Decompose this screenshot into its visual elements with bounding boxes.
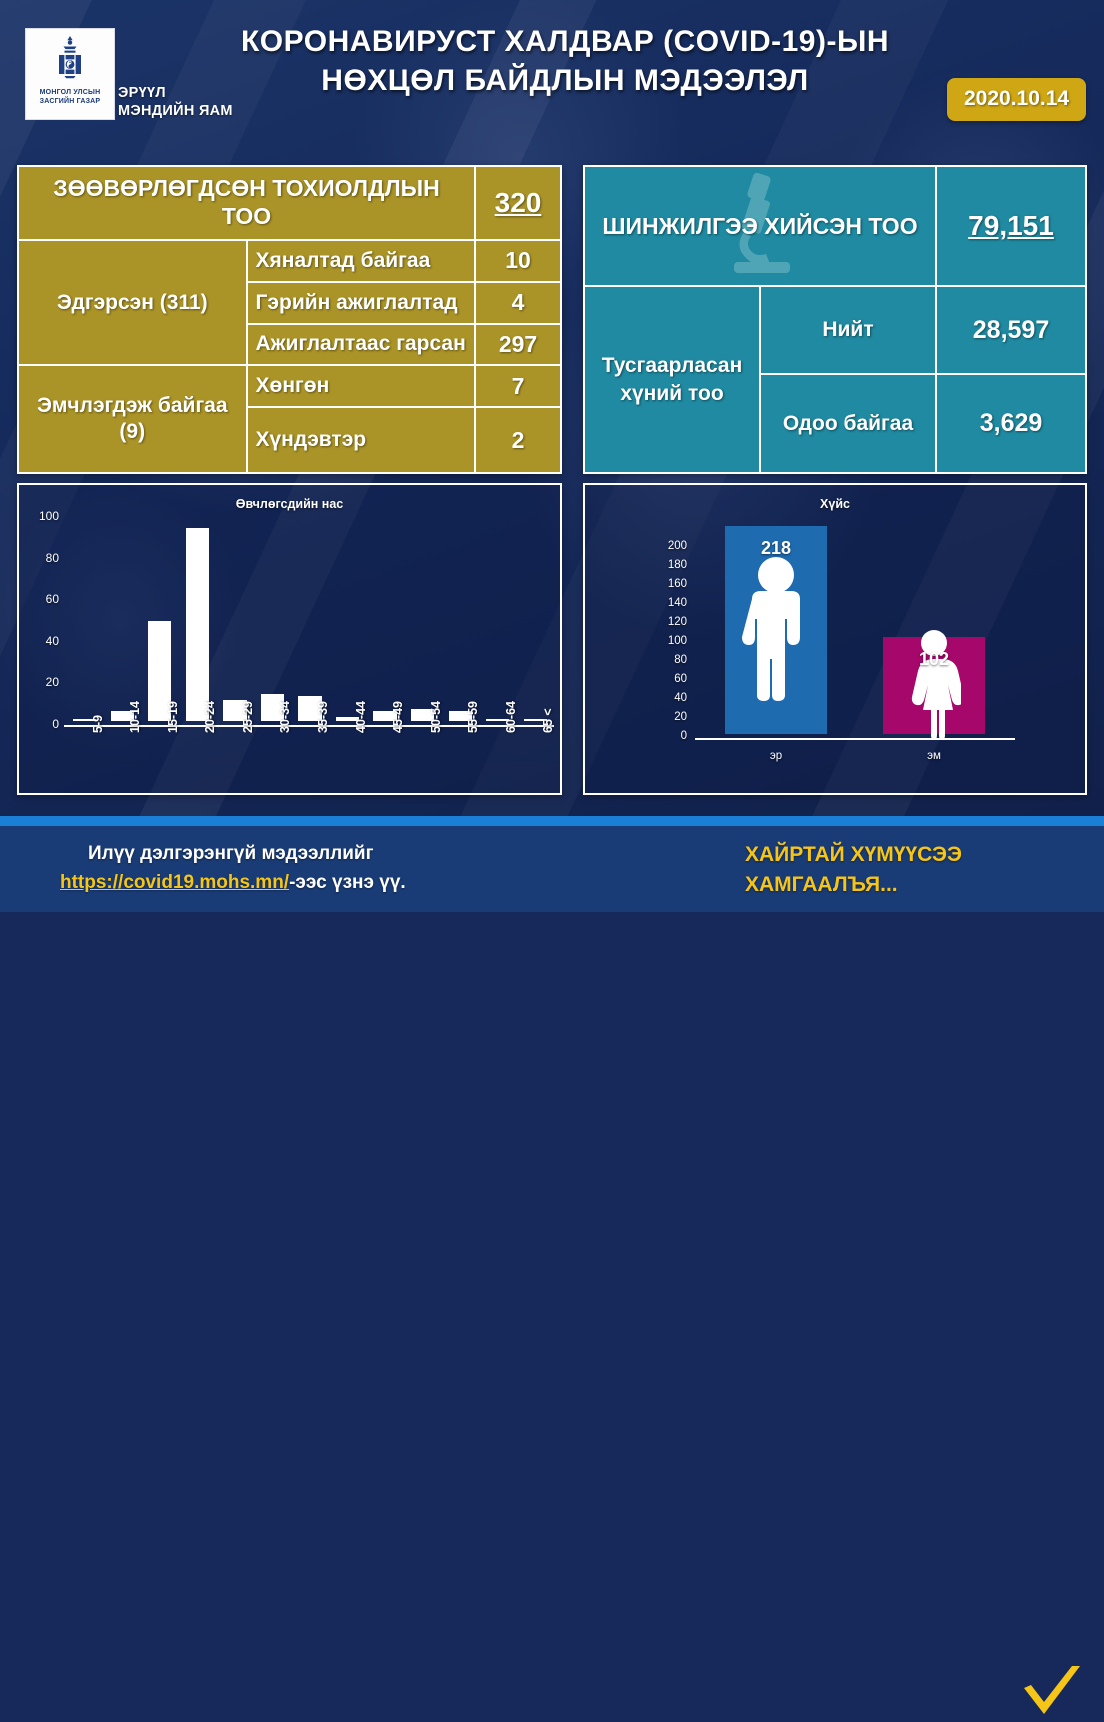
y-tick-80: 80: [19, 551, 59, 565]
age-x-label: 25-29: [241, 701, 255, 733]
y-tick-120: 120: [643, 616, 687, 628]
page-title-line2: НӨХЦӨЛ БАЙДЛЫН МЭДЭЭЛЭЛ: [321, 64, 808, 97]
footer-info-line1: Илүү дэлгэрэнгүй мэдээллийг: [60, 840, 620, 869]
footer-slogan-line1: ХАЙРТАЙ ХҮМҮҮСЭЭ: [745, 840, 1035, 870]
age-x-label: 65 <: [541, 708, 555, 733]
date-badge: 2020.10.14: [947, 78, 1086, 121]
tests-label-text: ШИНЖИЛГЭЭ ХИЙСЭН ТОО: [602, 213, 917, 239]
y-tick-60: 60: [643, 673, 687, 685]
table-row: Эдгэрсэн (311) Хяналтад байгаа 10: [18, 240, 561, 282]
ministry-line1: ЭРҮҮЛ: [118, 85, 166, 101]
y-tick-0: 0: [643, 730, 687, 742]
row-value-3: 7: [475, 365, 561, 407]
age-x-label: 55-59: [466, 701, 480, 733]
row-label-0: Хяналтад байгаа: [247, 240, 476, 282]
table-row: Эмчлэгдэж байгаа (9) Хөнгөн 7: [18, 365, 561, 407]
row-value-2: 297: [475, 324, 561, 366]
tests-summary-table: ШИНЖИЛГЭЭ ХИЙСЭН ТОО 79,151 Тусгаарласан…: [583, 165, 1087, 474]
male-figure-icon: [740, 553, 812, 708]
footer-slogan-line2: ХАМГААЛЪЯ...: [745, 870, 1035, 900]
header: МОНГОЛ УЛСЫН ЗАСГИЙН ГАЗАР ЭРҮҮЛ МЭНДИЙН…: [0, 0, 1104, 148]
footer-slogan: ХАЙРТАЙ ХҮМҮҮСЭЭ ХАМГААЛЪЯ...: [745, 840, 1035, 901]
row-label-3: Хөнгөн: [247, 365, 476, 407]
age-x-label: 15-19: [166, 701, 180, 733]
y-tick-100: 100: [643, 635, 687, 647]
female-figure-icon: [907, 628, 961, 743]
cases-summary-table: ЗӨӨВӨРЛӨГДСӨН ТОХИОЛДЛЫН ТОО 320 Эдгэрсэ…: [17, 165, 562, 474]
y-tick-140: 140: [643, 597, 687, 609]
y-tick-180: 180: [643, 559, 687, 571]
tests-value: 79,151: [936, 166, 1086, 286]
age-x-label: 50-54: [429, 701, 443, 733]
total-cases-label: ЗӨӨВӨРЛӨГДСӨН ТОХИОЛДЛЫН ТОО: [18, 166, 475, 240]
table-row: Тусгаарласан хүний тоо Нийт 28,597: [584, 286, 1086, 374]
tests-label: ШИНЖИЛГЭЭ ХИЙСЭН ТОО: [584, 166, 936, 286]
age-x-label: 10-14: [128, 701, 142, 733]
accent-strip: [0, 816, 1104, 826]
sex-category-label: эр: [725, 750, 826, 762]
age-x-label: 30-34: [278, 701, 292, 733]
logo-text: МОНГОЛ УЛСЫН ЗАСГИЙН ГАЗАР: [40, 88, 101, 107]
age-chart-title: Өвчлөгсдийн нас: [19, 497, 560, 511]
logo-text-line1: МОНГОЛ УЛСЫН: [40, 89, 101, 96]
sex-bar-value: 102: [883, 649, 984, 670]
age-bar: [186, 528, 209, 721]
table-row: ЗӨӨВӨРЛӨГДСӨН ТОХИОЛДЛЫН ТОО 320: [18, 166, 561, 240]
page-title: КОРОНАВИРУСТ ХАЛДВАР (COVID-19)-ЫН НӨХЦӨ…: [200, 22, 930, 100]
age-x-label: 60-64: [504, 701, 518, 733]
footer-info: Илүү дэлгэрэнгүй мэдээллийг https://covi…: [60, 840, 620, 897]
y-tick-0: 0: [19, 717, 59, 731]
isolated-row-label-1: Одоо байгаа: [760, 374, 936, 473]
y-tick-20: 20: [643, 711, 687, 723]
y-tick-60: 60: [19, 592, 59, 606]
age-distribution-chart: Өвчлөгсдийн нас 020406080100 5-910-1415-…: [17, 483, 562, 795]
ministry-line2: МЭНДИЙН ЯАМ: [118, 103, 233, 119]
sex-bar-value: 218: [725, 538, 826, 559]
row-label-2: Ажиглалтаас гарсан: [247, 324, 476, 366]
age-x-label: 35-39: [316, 701, 330, 733]
sex-distribution-chart: Хүйс 020406080100120140160180200 218эр10…: [583, 483, 1087, 795]
y-tick-160: 160: [643, 578, 687, 590]
isolated-row-label-0: Нийт: [760, 286, 936, 374]
y-tick-100: 100: [19, 509, 59, 523]
row-value-1: 4: [475, 282, 561, 324]
footer-info-suffix: -ээс үзнэ үү.: [289, 872, 406, 893]
y-tick-40: 40: [643, 692, 687, 704]
y-tick-20: 20: [19, 675, 59, 689]
footer: Илүү дэлгэрэнгүй мэдээллийг https://covi…: [0, 826, 1104, 912]
government-logo: МОНГОЛ УЛСЫН ЗАСГИЙН ГАЗАР: [25, 28, 115, 120]
isolated-row-value-1: 3,629: [936, 374, 1086, 473]
sex-category-label: эм: [883, 750, 984, 762]
row-value-4: 2: [475, 407, 561, 473]
age-x-label: 5-9: [91, 715, 105, 733]
age-x-label: 45-49: [391, 701, 405, 733]
table-row: ШИНЖИЛГЭЭ ХИЙСЭН ТОО 79,151: [584, 166, 1086, 286]
sex-chart-x-axis: [695, 738, 1015, 740]
age-x-label: 40-44: [354, 701, 368, 733]
soyombo-emblem-icon: [47, 34, 93, 86]
row-label-1: Гэрийн ажиглалтад: [247, 282, 476, 324]
age-x-label: 20-24: [203, 701, 217, 733]
total-cases-value: 320: [475, 166, 561, 240]
sex-chart-title: Хүйс: [585, 497, 1085, 511]
isolated-group-label: Тусгаарласан хүний тоо: [584, 286, 760, 473]
row-value-0: 10: [475, 240, 561, 282]
logo-text-line2: ЗАСГИЙН ГАЗАР: [40, 98, 101, 105]
under-treatment-group-label: Эмчлэгдэж байгаа (9): [18, 365, 247, 473]
page-title-line1: КОРОНАВИРУСТ ХАЛДВАР (COVID-19)-ЫН: [241, 25, 889, 58]
checkmark-icon: [1020, 1664, 1084, 1722]
y-tick-200: 200: [643, 540, 687, 552]
recovered-group-label: Эдгэрсэн (311): [18, 240, 247, 365]
footer-url-link[interactable]: https://covid19.mohs.mn/: [60, 872, 289, 893]
y-tick-40: 40: [19, 634, 59, 648]
y-tick-80: 80: [643, 654, 687, 666]
isolated-row-value-0: 28,597: [936, 286, 1086, 374]
row-label-4: Хүндэвтэр: [247, 407, 476, 473]
